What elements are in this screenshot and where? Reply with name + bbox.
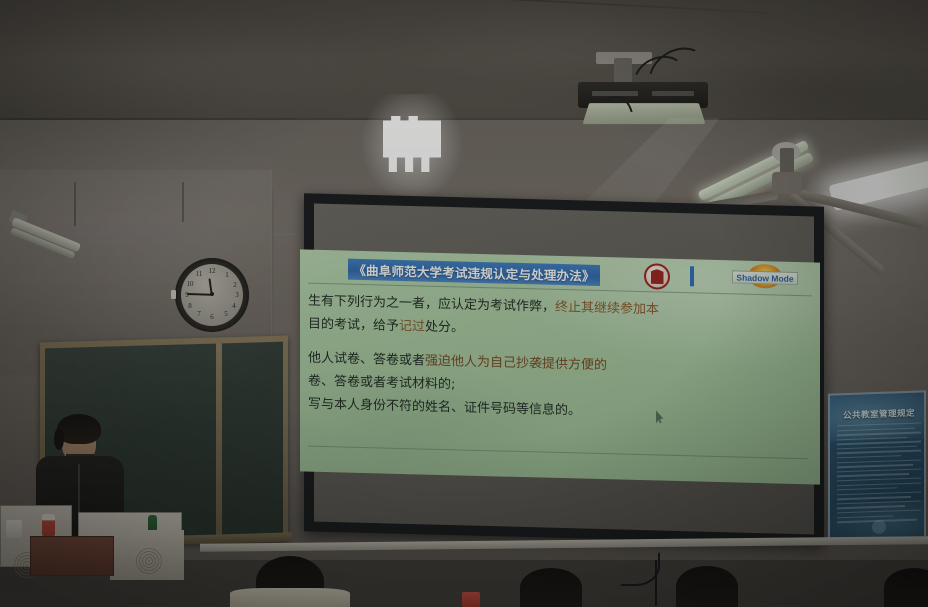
poster-text-line	[837, 500, 921, 504]
classroom-photo-scene: 12 1 2 3 4 5 6 7 8 9 10 11 《曲阜师范大学考试违规	[0, 0, 928, 607]
wall-clock: 12 1 2 3 4 5 6 7 8 9 10 11	[175, 258, 249, 332]
poster-text-line	[837, 464, 913, 468]
slide-bottom-divider	[308, 446, 808, 460]
poster-text-line	[837, 441, 921, 445]
fan-motor-housing	[772, 172, 802, 194]
poster-text-line	[837, 491, 921, 495]
seal-glyph	[651, 269, 664, 284]
poster-text-line	[837, 515, 893, 518]
clock-numeral: 8	[185, 301, 195, 311]
poster-text-line	[837, 477, 921, 481]
poster-text-line	[837, 487, 897, 490]
regulations-poster: 公共教室管理规定	[828, 390, 926, 543]
clock-numeral: 2	[230, 280, 240, 290]
ceiling	[0, 0, 928, 128]
poster-text-line	[837, 509, 921, 513]
slide-text-segment: 卷、答卷或者考试材料的;	[308, 374, 455, 393]
light-panel	[383, 116, 441, 172]
wall-cable	[620, 552, 660, 586]
poster-text-block	[837, 422, 921, 526]
poster-text-line	[837, 437, 907, 441]
slide-text-segment: 写与本人身份不符的姓名、证件号码等信息的。	[308, 397, 581, 419]
podium-front-panel	[30, 536, 114, 576]
wall-conduit	[272, 190, 274, 340]
shadow-mode-badge: Shadow Mode	[732, 263, 798, 293]
slide-text-segment-highlight: 终止其继续参加本	[555, 300, 659, 318]
slide-text-segment-highlight: 记过	[399, 319, 425, 335]
shadow-mode-plate: Shadow Mode	[732, 270, 798, 285]
student-head-2	[520, 568, 582, 607]
student-head-3	[676, 566, 738, 607]
blue-text-caret-icon	[690, 266, 694, 286]
light-hanger-rod	[182, 182, 184, 222]
clock-numeral: 6	[207, 312, 217, 322]
clock-numeral: 10	[185, 279, 195, 289]
clock-center-pin	[210, 292, 214, 296]
poster-text-line	[837, 459, 921, 463]
ceiling-texture	[0, 0, 928, 128]
student-head-4	[884, 568, 928, 607]
poster-text-line	[837, 432, 921, 436]
presenter-hair-side	[54, 428, 64, 450]
ceiling-light-fixture	[383, 110, 441, 178]
clock-side-nub	[171, 290, 176, 299]
wall-cable	[655, 560, 657, 606]
shadow-mode-label: Shadow Mode	[736, 272, 793, 283]
poster-text-line	[837, 482, 921, 486]
clock-numeral: 5	[221, 309, 231, 319]
slide-body-text: 生有下列行为之一者，应认定为考试作弊，终止其继续参加本 目的考试，给予记过处分。…	[308, 290, 814, 429]
poster-text-line	[837, 445, 917, 449]
slide-text-segment: 生有下列行为之一者，应认定为考试作弊，	[308, 294, 555, 315]
student-shoulders-1	[230, 588, 350, 607]
slide-text-segment: 处分。	[425, 320, 464, 336]
slide-text-segment-highlight: 强迫他人为自己抄袭提供方便的	[425, 354, 607, 374]
poster-text-line	[837, 450, 921, 454]
clock-numeral: 11	[194, 269, 204, 279]
clock-numeral: 1	[222, 270, 232, 280]
slide-title-bar: 《曲阜师范大学考试违规认定与处理办法》	[348, 259, 600, 286]
clock-face: 12 1 2 3 4 5 6 7 8 9 10 11	[181, 264, 243, 326]
projected-slide: 《曲阜师范大学考试违规认定与处理办法》 Shadow Mode 生有下列行为之一…	[300, 249, 820, 484]
clock-numeral: 12	[207, 266, 217, 276]
clock-numeral: 7	[194, 309, 204, 319]
red-cup-on-desk	[462, 592, 480, 607]
poster-text-line	[837, 473, 909, 477]
projector-vent	[652, 91, 694, 96]
blackboard-divider	[216, 343, 222, 536]
slide-title: 《曲阜师范大学考试违规认定与处理办法》	[353, 260, 594, 285]
clock-numeral: 3	[232, 290, 242, 300]
poster-text-line	[837, 496, 911, 500]
poster-text-line	[837, 427, 915, 431]
podium-medallion	[136, 548, 162, 574]
poster-text-line	[837, 468, 921, 472]
white-cup	[6, 520, 22, 538]
red-cup	[42, 514, 55, 536]
university-red-seal-icon	[644, 263, 670, 290]
poster-text-line	[837, 505, 905, 509]
light-hanger-rod	[74, 182, 76, 226]
slide-text-segment: 目的考试，给予	[308, 317, 399, 334]
poster-text-line	[837, 455, 901, 459]
slide-text-segment: 他人试卷、答卷或者	[308, 351, 425, 369]
